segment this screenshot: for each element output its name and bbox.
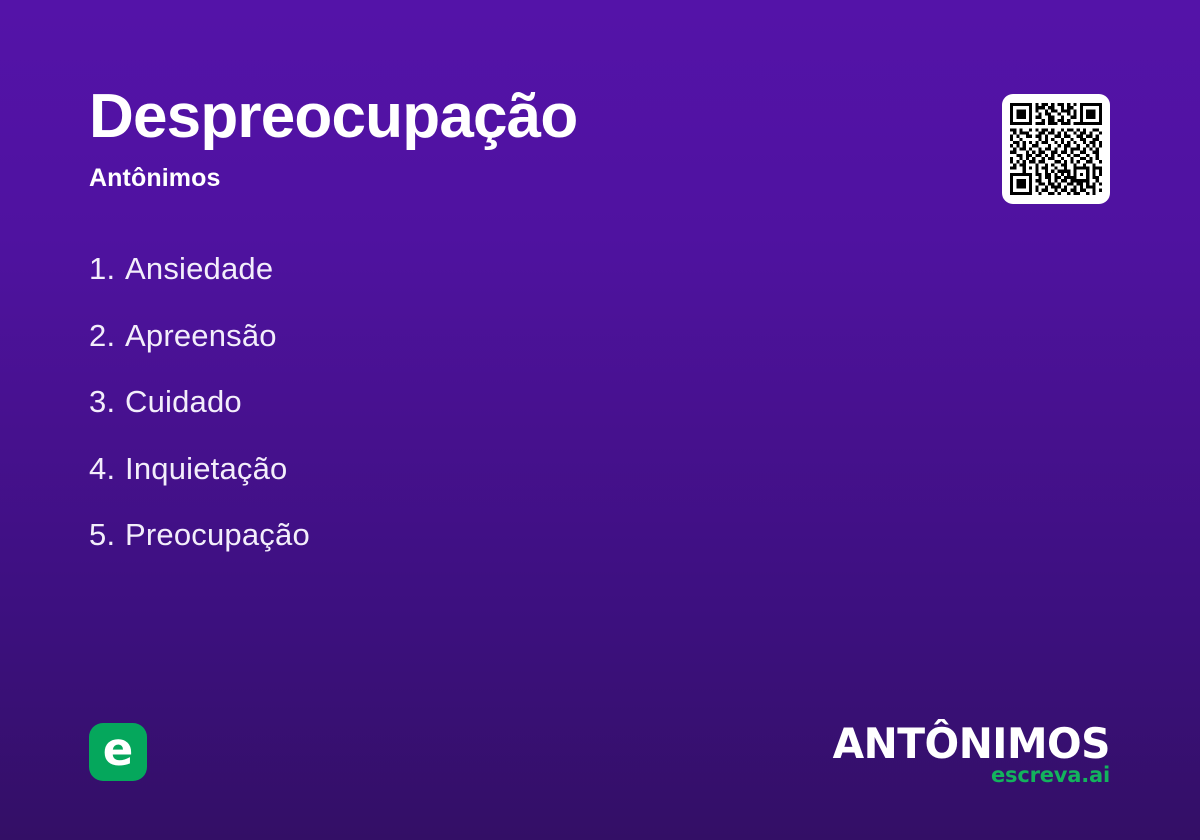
list-item-label: Inquietação <box>125 451 288 487</box>
brand-logo-name: ANTÔNIMOS <box>833 724 1110 764</box>
list-item-index: 3. <box>89 384 125 420</box>
list-item-label: Cuidado <box>125 384 242 420</box>
badge-letter: e <box>103 727 134 772</box>
brand-logo: ANTÔNIMOS escreva.ai <box>824 724 1110 786</box>
qr-code-icon <box>1010 103 1102 195</box>
list-item: 1.Ansiedade <box>89 236 849 303</box>
antonym-list: 1.Ansiedade2.Apreensão3.Cuidado4.Inquiet… <box>89 236 849 569</box>
page-subtitle: Antônimos <box>89 166 909 191</box>
list-item-index: 2. <box>89 318 125 354</box>
list-item: 4.Inquietação <box>89 436 849 503</box>
list-item: 3.Cuidado <box>89 369 849 436</box>
brand-logo-domain: escreva.ai <box>824 765 1110 786</box>
list-item-index: 5. <box>89 517 125 553</box>
headline-block: Despreocupação Antônimos <box>89 86 909 191</box>
list-item-index: 4. <box>89 451 125 487</box>
list-item-label: Apreensão <box>125 318 277 354</box>
qr-code[interactable] <box>1002 94 1110 204</box>
list-item-index: 1. <box>89 251 125 287</box>
antonyms-card: Despreocupação Antônimos 1.Ansiedade2.Ap… <box>0 0 1200 840</box>
list-item: 5.Preocupação <box>89 502 849 569</box>
list-item: 2.Apreensão <box>89 303 849 370</box>
escreva-badge[interactable]: e <box>89 723 147 781</box>
list-item-label: Preocupação <box>125 517 310 553</box>
page-title: Despreocupação <box>89 86 909 148</box>
list-item-label: Ansiedade <box>125 251 273 287</box>
